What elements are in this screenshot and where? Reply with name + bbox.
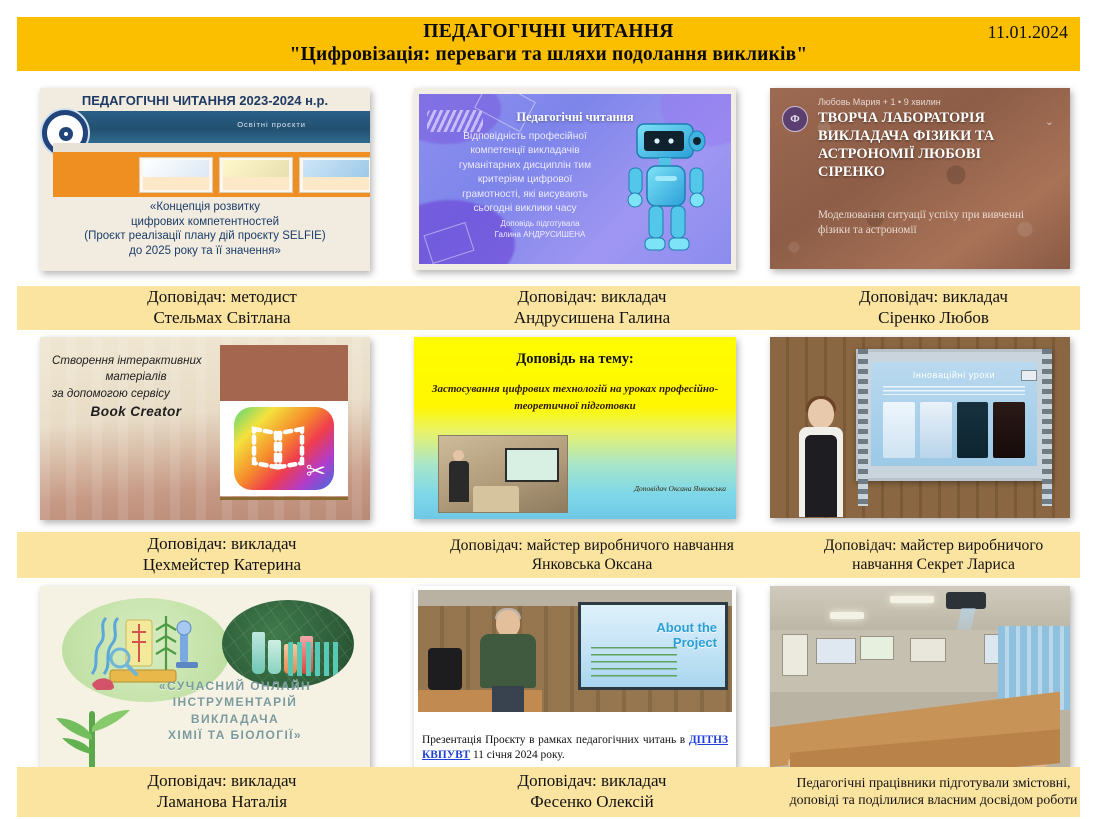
- test-tubes-icon: [288, 642, 340, 676]
- projection-screen: About the Project: [578, 602, 728, 690]
- slide-title: ПЕДАГОГІЧНІ ЧИТАННЯ 2023-2024 н.р.: [40, 93, 370, 108]
- project-card-2: [219, 157, 293, 193]
- gallery-row-3-thumbs: «СУЧАСНИЙ ОНЛАЙН ІНСТРУМЕНТАРІЙ ВИКЛАДАЧ…: [0, 578, 1097, 776]
- slide-body-line-4: Book Creator: [52, 402, 220, 421]
- caption-line-2: Ламанова Наталія: [157, 792, 287, 813]
- caption-line-1: Доповідач: викладач: [518, 287, 667, 308]
- wall-poster: [816, 638, 856, 664]
- slide-body-line-5: грамотності, які висувають: [425, 188, 625, 202]
- slide-canvas: Доповідь на тему: Застосування цифрових …: [414, 337, 736, 519]
- scissors-icon: ✂: [306, 460, 326, 484]
- slide-subbar: [53, 143, 370, 152]
- gallery-row-1: ПЕДАГОГІЧНІ ЧИТАННЯ 2023-2024 н.р. Освіт…: [0, 82, 1097, 280]
- caption-line-2: Сіренко Любов: [878, 308, 989, 329]
- projection-title-line-2: Project: [673, 635, 717, 650]
- article-title-line-1: ТВОРЧА ЛАБОРАТОРІЯ: [818, 110, 1056, 128]
- projection-bullet-lines: [591, 647, 677, 677]
- photo-canvas: [770, 586, 1070, 769]
- slide-body-line-6: сьогодні виклики часу: [425, 202, 625, 216]
- photo-caption: Презентація Проєкту в рамках педагогічни…: [422, 733, 728, 764]
- photo-caption-part-2: 11 січня 2024 року.: [470, 749, 565, 761]
- caption-line-1: Доповідач: викладач: [148, 771, 297, 792]
- caption-line-2: Цехмейстер Катерина: [143, 555, 301, 576]
- caption-line-1: Доповідач: майстер виробничого навчання: [450, 536, 734, 555]
- caption-line-2: Стельмах Світлана: [153, 308, 290, 329]
- caption-line-1: Педагогічні працівники підготували зміст…: [797, 775, 1071, 792]
- header-titles: ПЕДАГОГІЧНІ ЧИТАННЯ "Цифровізація: перев…: [17, 17, 1080, 66]
- slide-subtitle: Застосування цифрових технологій на урок…: [424, 381, 726, 414]
- photo-presenter: [480, 610, 536, 712]
- wall-poster: [910, 638, 946, 662]
- whiteboard-text-lines: [883, 386, 1025, 395]
- book-creator-app-icon: ✂: [234, 407, 334, 490]
- caption-speaker-8: Доповідач: викладач Фесенко Олексій: [414, 767, 770, 817]
- slide-rule: [220, 497, 348, 500]
- photo-presenter: [796, 399, 846, 517]
- slide-subtitle-line-1: Застосування цифрових технологій на урок…: [424, 381, 726, 398]
- slide-body-line-2: компетенції викладачів: [425, 144, 625, 158]
- chemistry-photo: [222, 600, 354, 688]
- caption-line-2: Фесенко Олексій: [530, 792, 653, 813]
- wall-poster: [860, 636, 894, 660]
- photo-thumbnail-audience[interactable]: [770, 586, 1070, 769]
- slide-brown-panel: [220, 345, 348, 401]
- slide-body-text: Відповідність професійної компетенції ви…: [425, 130, 625, 217]
- caption-bar-row-2: Доповідач: викладач Цехмейстер Катерина …: [17, 532, 1080, 578]
- project-card-3: [299, 157, 370, 193]
- robot-icon: [619, 112, 715, 262]
- ceiling-light-icon: [890, 596, 934, 603]
- slide-body-line-4: до 2025 року та її значення»: [46, 244, 364, 259]
- projector-icon: [946, 592, 986, 609]
- whiteboard-button-strip: [858, 349, 868, 506]
- slide-body-text: Створення інтерактивних матеріалів за до…: [52, 353, 220, 422]
- slide-caption-text: «СУЧАСНИЙ ОНЛАЙН ІНСТРУМЕНТАРІЙ ВИКЛАДАЧ…: [106, 678, 364, 743]
- whiteboard-screen: Інноваційні уроки: [871, 362, 1037, 466]
- gallery-row-1-thumbs: ПЕДАГОГІЧНІ ЧИТАННЯ 2023-2024 н.р. Освіт…: [0, 82, 1097, 280]
- slide-caption-line-3: ВИКЛАДАЧА: [106, 711, 364, 727]
- slide-orange-strip: [53, 152, 370, 197]
- gallery-row-2: Створення інтерактивних матеріалів за до…: [0, 331, 1097, 529]
- caption-line-1: Доповідач: викладач: [859, 287, 1008, 308]
- caption-bar-row-3: Доповідач: викладач Ламанова Наталія Доп…: [17, 767, 1080, 817]
- caption-speaker-2: Доповідач: викладач Андрусишена Галина: [414, 286, 770, 330]
- slide-body-line-4: критеріям цифрової: [425, 173, 625, 187]
- slide-body-line-3: за допомогою сервісу: [52, 386, 220, 402]
- slide-thumbnail-book-creator[interactable]: Створення інтерактивних матеріалів за до…: [40, 337, 370, 520]
- caption-line-2: доповіді та поділилися власним досвідом …: [790, 792, 1078, 809]
- slide-thumbnail-chemistry-biology-tools[interactable]: «СУЧАСНИЙ ОНЛАЙН ІНСТРУМЕНТАРІЙ ВИКЛАДАЧ…: [40, 586, 370, 772]
- photo-person: [449, 450, 469, 502]
- whiteboard-badge-icon: [1021, 370, 1037, 381]
- photo-canvas: Інноваційні уроки: [770, 337, 1070, 518]
- slide-thumbnail-physics-lab[interactable]: Любовь Мария + 1 • 9 хвилин Ф ⌄ ТВОРЧА Л…: [770, 88, 1070, 269]
- article-title-line-2: ВИКЛАДАЧА ФІЗИКИ ТА: [818, 128, 1056, 146]
- article-subtitle: Моделювання ситуації успіху при вивченні…: [818, 208, 1058, 237]
- interactive-whiteboard: Інноваційні уроки: [856, 349, 1052, 481]
- slide-body-line-3: гуманітарних дисциплін тим: [425, 159, 625, 173]
- article-title-line-3: АСТРОНОМІЇ ЛЮБОВІ: [818, 146, 1056, 164]
- slide-body-line-2: матеріалів: [52, 369, 220, 385]
- slide-body-line-3: (Проєкт реалізації плану дій проєкту SEL…: [46, 229, 364, 244]
- presentation-photo: About the Project: [418, 590, 732, 712]
- slide-author-line-2: Галина АНДРУСИШЕНА: [465, 229, 615, 240]
- caption-speaker-1: Доповідач: методист Стельмах Світлана: [57, 286, 387, 330]
- page-header: ПЕДАГОГІЧНІ ЧИТАННЯ "Цифровізація: перев…: [17, 17, 1080, 71]
- caption-line-2: Андрусишена Галина: [514, 308, 670, 329]
- slide-thumbnail-selfie-concept[interactable]: ПЕДАГОГІЧНІ ЧИТАННЯ 2023-2024 н.р. Освіт…: [40, 88, 370, 271]
- slide-caption-line-1: «СУЧАСНИЙ ОНЛАЙН: [106, 678, 364, 694]
- slide-body-line-1: «Концепція розвитку: [46, 200, 364, 215]
- slide-thumbnail-digital-competence[interactable]: Педагогічні читання Відповідність профес…: [414, 88, 736, 270]
- slide-author: Доповідь підготувала Галина АНДРУСИШЕНА: [465, 218, 615, 240]
- photo-card: About the Project Презентація Проєкту в …: [414, 586, 736, 772]
- caption-speaker-5: Доповідач: майстер виробничого навчання …: [414, 532, 770, 578]
- slide-body-line-2: цифрових компетентностей: [46, 215, 364, 230]
- caption-speaker-6: Доповідач: майстер виробничого навчання …: [770, 532, 1097, 578]
- slide-thumbnail-digital-technologies-report[interactable]: Доповідь на тему: Застосування цифрових …: [414, 337, 736, 519]
- slide-banner-text: Освітні проєкти: [237, 120, 306, 129]
- caption-speaker-7: Доповідач: викладач Ламанова Наталія: [57, 767, 387, 817]
- caption-line-1: Доповідач: методист: [147, 287, 297, 308]
- slide-canvas: Створення інтерактивних матеріалів за до…: [40, 337, 370, 520]
- caption-speaker-3: Доповідач: викладач Сіренко Любов: [770, 286, 1097, 330]
- project-card-1: [139, 157, 213, 193]
- photo-screen: [505, 448, 559, 482]
- caption-line-2: навчання Секрет Лариса: [852, 555, 1015, 574]
- slide-body-text: «Концепція розвитку цифрових компетентно…: [46, 200, 364, 259]
- institution-logo-icon: Ф: [782, 106, 808, 132]
- slide-caption-line-2: ІНСТРУМЕНТАРІЙ: [106, 694, 364, 710]
- page-title-line-2: "Цифровізація: переваги та шляхи подолан…: [17, 43, 1080, 66]
- article-title: ТВОРЧА ЛАБОРАТОРІЯ ВИКЛАДАЧА ФІЗИКИ ТА А…: [818, 110, 1056, 181]
- ceiling-light-icon: [830, 612, 864, 619]
- slide-canvas: ПЕДАГОГІЧНІ ЧИТАННЯ 2023-2024 н.р. Освіт…: [40, 88, 370, 271]
- photo-ceiling: [770, 586, 1070, 630]
- gallery-row-3: «СУЧАСНИЙ ОНЛАЙН ІНСТРУМЕНТАРІЙ ВИКЛАДАЧ…: [0, 578, 1097, 776]
- slide-body-line-1: Створення інтерактивних: [52, 353, 220, 369]
- caption-line-1: Доповідач: викладач: [148, 534, 297, 555]
- slide-title: Доповідь на тему:: [414, 351, 736, 368]
- article-title-line-4: СІРЕНКО: [818, 164, 1056, 182]
- whiteboard-screenshots: [883, 402, 1025, 458]
- caption-line-1: Доповідач: викладач: [518, 771, 667, 792]
- page-title-line-1: ПЕДАГОГІЧНІ ЧИТАННЯ: [17, 20, 1080, 43]
- whiteboard-title: Інноваційні уроки: [871, 370, 1037, 380]
- photo-desk: [473, 486, 519, 512]
- photo-chair: [428, 648, 462, 690]
- article-card: Любовь Мария + 1 • 9 хвилин Ф ⌄ ТВОРЧА Л…: [770, 88, 1070, 269]
- header-date: 11.01.2024: [988, 22, 1068, 43]
- photo-caption-part-1: Презентація Проєкту в рамках педагогічни…: [422, 734, 689, 746]
- caption-speaker-4: Доповідач: викладач Цехмейстер Катерина: [57, 532, 387, 578]
- slide-subtitle-line-2: теоретичної підготовки: [424, 398, 726, 415]
- projection-title-line-1: About the: [656, 620, 717, 635]
- article-subtitle-line-2: фізики та астрономії: [818, 223, 1058, 238]
- slide-canvas: «СУЧАСНИЙ ОНЛАЙН ІНСТРУМЕНТАРІЙ ВИКЛАДАЧ…: [40, 586, 370, 772]
- slide-author-line-1: Доповідь підготувала: [465, 218, 615, 229]
- caption-bar-row-1: Доповідач: методист Стельмах Світлана До…: [17, 286, 1080, 330]
- caption-summary: Педагогічні працівники підготували зміст…: [770, 767, 1097, 817]
- slide-banner: Освітні проєкти: [53, 111, 370, 143]
- article-subtitle-line-1: Моделювання ситуації успіху при вивченні: [818, 208, 1058, 223]
- slide-inner: Педагогічні читання Відповідність профес…: [419, 94, 731, 264]
- photo-thumbnail-innovative-lessons[interactable]: Інноваційні уроки: [770, 337, 1070, 518]
- slide-caption-line-4: ХІМІЇ ТА БІОЛОГІЇ»: [106, 727, 364, 743]
- slide-author: Доповідач Оксана Янковська: [634, 484, 726, 493]
- caption-line-1: Доповідач: майстер виробничого: [824, 536, 1043, 555]
- open-book-icon: [250, 423, 306, 471]
- gallery-row-2-thumbs: Створення інтерактивних матеріалів за до…: [0, 331, 1097, 529]
- slide-body-line-1: Відповідність професійної: [425, 130, 625, 144]
- caption-line-2: Янковська Оксана: [532, 555, 653, 574]
- presenter-photo: [438, 435, 568, 513]
- article-meta: Любовь Мария + 1 • 9 хвилин: [818, 97, 941, 107]
- slide-white-panel: ✂: [220, 401, 348, 496]
- slide-canvas: Педагогічні читання Відповідність профес…: [414, 88, 736, 270]
- photo-thumbnail-project-presentation[interactable]: About the Project Презентація Проєкту в …: [414, 586, 736, 772]
- whiteboard-button-strip: [1042, 349, 1052, 506]
